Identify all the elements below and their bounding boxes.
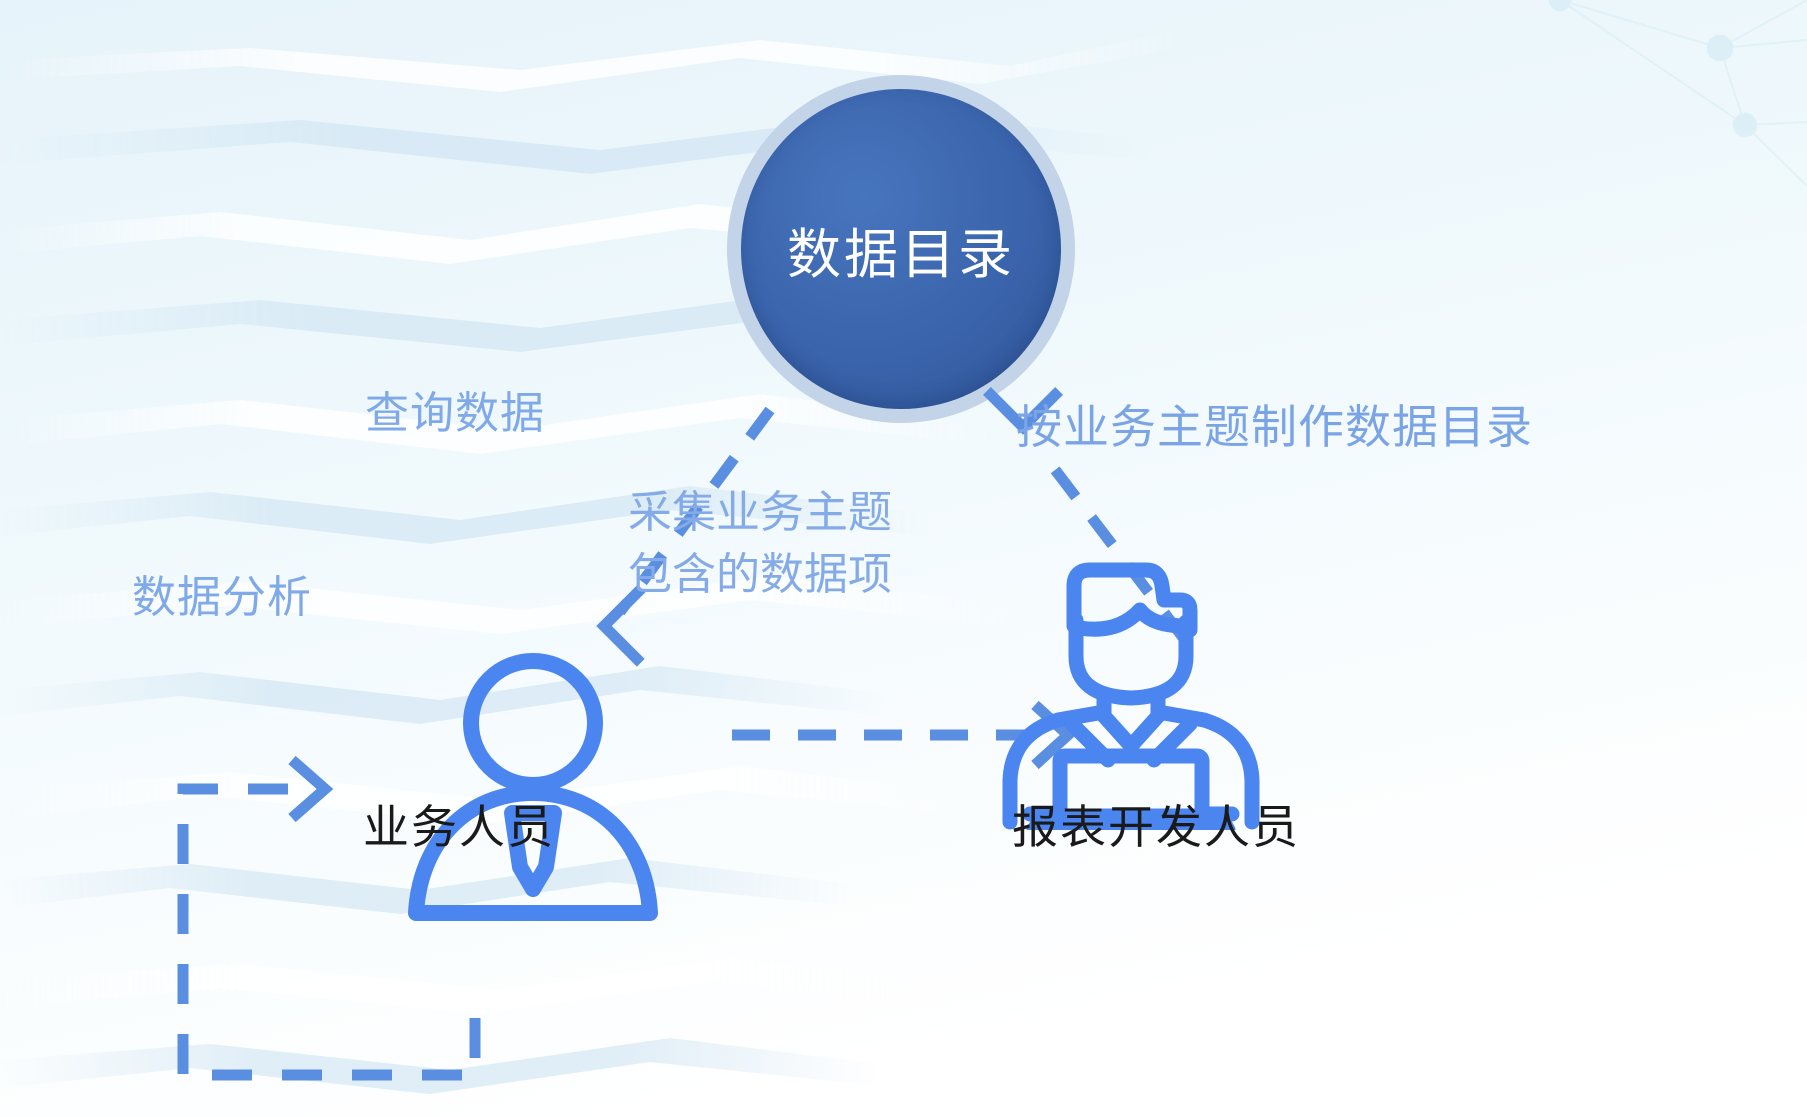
edge-label-collect-items: 采集业务主题 包含的数据项 <box>628 482 892 607</box>
actor-caption-business-user: 业务人员 <box>363 800 555 854</box>
edge-label-query-data: 查询数据 <box>365 388 545 440</box>
edge-label-data-analysis: 数据分析 <box>132 572 312 624</box>
business-person-icon[interactable] <box>398 645 668 925</box>
central-node-data-catalog[interactable]: 数据目录 <box>727 75 1075 423</box>
edge-label-collect-items-line1: 采集业务主题 <box>628 482 892 544</box>
actor-caption-report-developer: 报表开发人员 <box>1012 800 1300 854</box>
diagram-canvas: 数据目录 <box>0 0 1807 1117</box>
central-node-label: 数据目录 <box>787 210 1015 289</box>
edge-label-build-catalog: 按业务主题制作数据目录 <box>1016 400 1533 454</box>
central-node-circle: 数据目录 <box>741 89 1061 409</box>
developer-with-laptop-icon[interactable] <box>1000 548 1262 830</box>
edge-label-collect-items-line2: 包含的数据项 <box>628 544 892 606</box>
